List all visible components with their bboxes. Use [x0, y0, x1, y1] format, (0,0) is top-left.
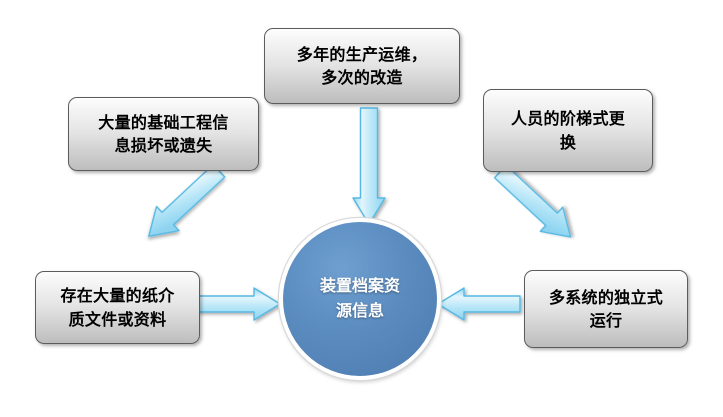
node-top-right-label: 人员的阶梯式更换 — [492, 107, 644, 153]
arrow-left-right — [196, 286, 288, 330]
node-right[interactable]: 多系统的独立式运行 — [524, 270, 688, 348]
node-top-label: 多年的生产运维，多次的改造 — [273, 43, 451, 89]
node-top-left-label: 大量的基础工程信息损坏或遗失 — [77, 111, 250, 157]
center-node-label: 装置档案资源信息 — [304, 274, 416, 324]
node-right-label: 多系统的独立式运行 — [533, 286, 679, 332]
node-top-left[interactable]: 大量的基础工程信息损坏或遗失 — [68, 97, 259, 171]
arrow-right-left — [434, 286, 528, 330]
arrow-top-down — [347, 106, 391, 228]
node-top[interactable]: 多年的生产运维，多次的改造 — [264, 28, 460, 104]
node-left-label: 存在大量的纸介质文件或资料 — [44, 284, 191, 330]
node-left[interactable]: 存在大量的纸介质文件或资料 — [35, 271, 200, 344]
diagram-canvas: 装置档案资源信息 多年的生产运维，多次的改造 大量的基础工程信息损坏或遗失 人员… — [0, 0, 723, 417]
center-node[interactable]: 装置档案资源信息 — [279, 218, 441, 380]
node-top-right[interactable]: 人员的阶梯式更换 — [483, 89, 653, 172]
